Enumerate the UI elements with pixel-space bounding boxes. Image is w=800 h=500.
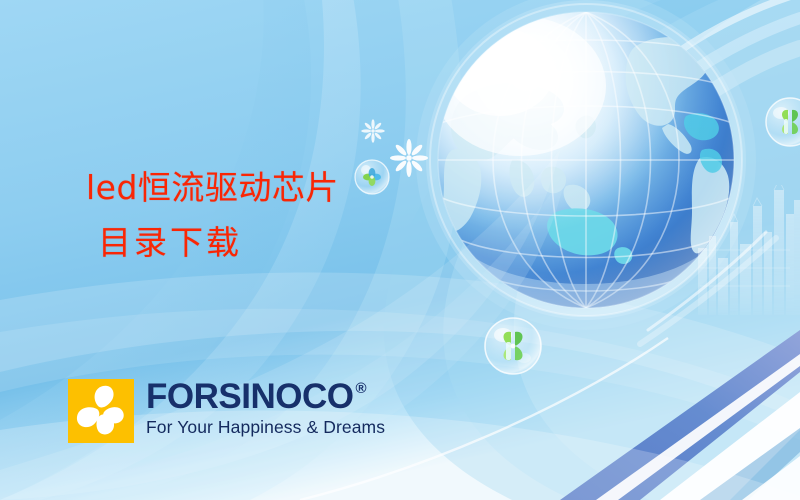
promo-headline: led恒流驱动芯片 目录下载 bbox=[86, 168, 339, 264]
brand-wordmark: FORSINOCO ® bbox=[146, 379, 385, 414]
brand-tagline: For Your Happiness & Dreams bbox=[146, 417, 385, 438]
registered-trademark-icon: ® bbox=[355, 381, 366, 396]
four-petal-pinwheel-icon bbox=[68, 379, 134, 443]
brand-name: FORSINOCO bbox=[146, 379, 353, 414]
headline-line-1: led恒流驱动芯片 bbox=[86, 168, 339, 209]
banner-canvas: led恒流驱动芯片 目录下载 FORSINOCO ® For Your Happ… bbox=[0, 0, 800, 500]
brand-logo[interactable]: FORSINOCO ® For Your Happiness & Dreams bbox=[68, 379, 385, 443]
headline-line-2: 目录下载 bbox=[86, 223, 339, 264]
brand-text: FORSINOCO ® For Your Happiness & Dreams bbox=[146, 379, 385, 438]
